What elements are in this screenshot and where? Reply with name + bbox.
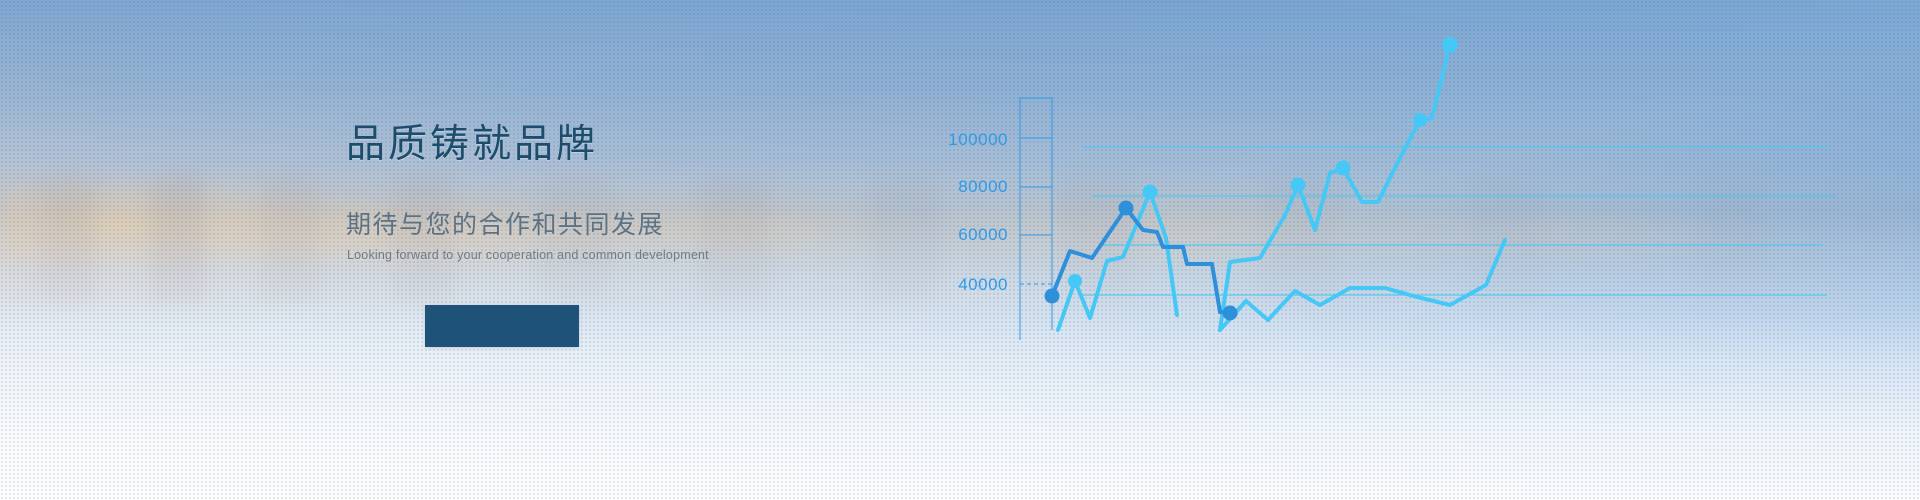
banner-subtitle: 期待与您的合作和共同发展 (346, 210, 906, 240)
marker-series3-c (1413, 113, 1427, 127)
y-tick-80000: 80000 (958, 177, 1008, 196)
series-2-line (1058, 192, 1177, 330)
page-title: 品质铸就品牌 (346, 122, 906, 168)
y-tick-60000: 60000 (958, 225, 1008, 244)
y-tick-100000: 100000 (948, 130, 1008, 149)
series-3-line (1220, 45, 1450, 330)
line-chart: 100000 80000 60000 40000 (930, 0, 1920, 500)
axis-frame (1020, 98, 1052, 340)
marker-series1-end (1223, 306, 1238, 321)
marker-series1-peak (1119, 201, 1134, 216)
marker-series3-b (1336, 161, 1351, 176)
grid-lines (1082, 147, 1835, 295)
marker-series2-a (1068, 274, 1082, 288)
marker-series2-peak (1143, 185, 1158, 200)
banner-copy: 品质铸就品牌 期待与您的合作和共同发展 Looking forward to y… (346, 122, 906, 263)
data-point-markers (1045, 37, 1459, 321)
marker-series1-start (1045, 289, 1060, 304)
series-1-line (1052, 208, 1230, 313)
highlight-band-top (1020, 98, 1052, 138)
marker-series3-end (1442, 37, 1458, 53)
marker-series3-a (1291, 178, 1306, 193)
banner-subtitle-english: Looking forward to your cooperation and … (347, 248, 906, 263)
y-tick-40000: 40000 (958, 275, 1008, 294)
cta-button[interactable] (425, 305, 579, 347)
y-axis-tick-labels: 100000 80000 60000 40000 (948, 130, 1008, 294)
banner-stage: 品质铸就品牌 期待与您的合作和共同发展 Looking forward to y… (0, 0, 1920, 500)
